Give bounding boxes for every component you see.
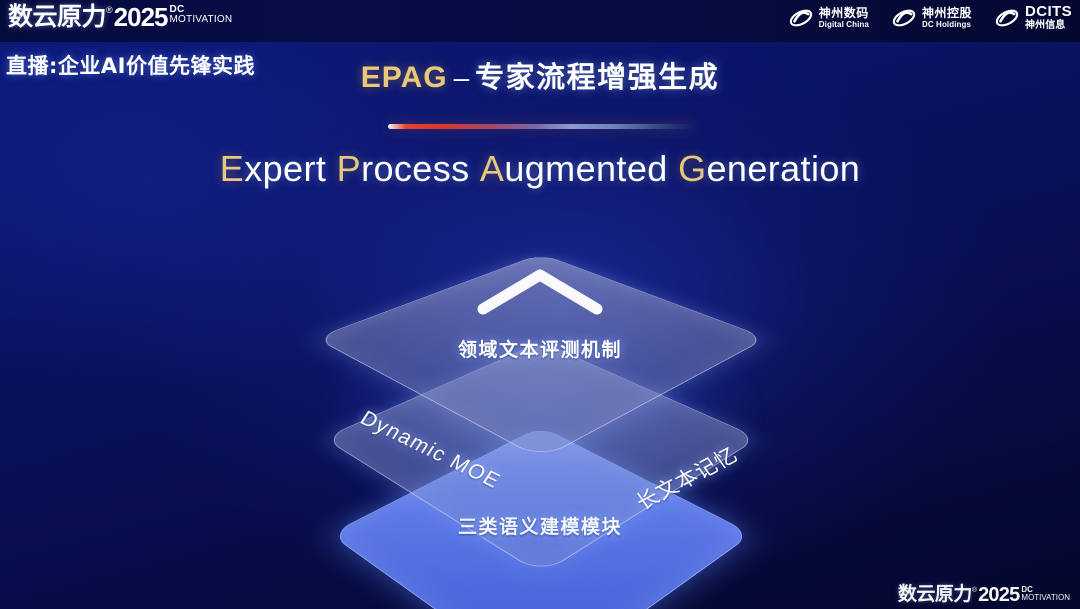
swirl-icon <box>891 5 917 31</box>
partner-logo-dc-holdings: 神州控股 DC Holdings <box>891 5 972 31</box>
partner-logo-text: 神州控股 DC Holdings <box>922 7 972 29</box>
layered-architecture-diagram: 领域文本评测机制 Dynamic MOE 长文本记忆 三类语义建模模块 <box>290 225 790 565</box>
brand-logo: 数云原力 ® 2025 DC MOTIVATION <box>8 4 232 30</box>
partner-name-cn: 神州控股 <box>922 7 972 19</box>
watermark-year: 2025 <box>978 585 1019 605</box>
brand-dc-text: DC <box>170 5 233 14</box>
partner-logo-dcits: DCITS 神州信息 <box>994 4 1072 31</box>
slide-canvas: 数云原力 ® 2025 DC MOTIVATION 直播:企业AI价值先锋实践 … <box>0 0 1080 609</box>
watermark-name-cn: 数云原力 <box>898 585 972 604</box>
brand-tagline: DC MOTIVATION <box>170 5 233 25</box>
partner-logo-digital-china: 神州数码 Digital China <box>788 5 869 31</box>
partner-name-cn: 神州数码 <box>819 7 869 19</box>
brand-name-cn: 数云原力 <box>8 4 106 29</box>
footer-watermark-logo: 数云原力 ® 2025 DC MOTIVATION <box>898 585 1070 605</box>
watermark-dc-text: DC <box>1021 586 1070 593</box>
page-title: EPAG–专家流程增强生成 <box>0 54 1080 96</box>
partner-logo-text: DCITS 神州信息 <box>1025 4 1072 31</box>
partner-logo-text: 神州数码 Digital China <box>819 7 869 29</box>
brand-motivation-text: MOTIVATION <box>170 14 233 25</box>
brand-registered-mark: ® <box>106 6 113 15</box>
subtitle-rest-augmented: ugmented <box>504 148 667 189</box>
partner-logo-group: 神州数码 Digital China 神州控股 DC Holdings <box>788 4 1072 31</box>
watermark-motivation-text: MOTIVATION <box>1021 593 1070 602</box>
title-chinese: 专家流程增强生成 <box>475 60 719 94</box>
swirl-icon <box>994 5 1020 31</box>
subtitle-rest-expert: xpert <box>244 148 326 189</box>
partner-name-en: Digital China <box>819 21 869 29</box>
subtitle-cap-g: G <box>678 148 706 189</box>
subtitle-cap-p: P <box>337 148 361 189</box>
watermark-tagline: DC MOTIVATION <box>1021 586 1070 602</box>
subtitle-expansion: Expert Process Augmented Generation <box>0 148 1080 190</box>
partner-name-en: DC Holdings <box>922 21 972 29</box>
swirl-icon <box>788 5 814 31</box>
title-dash: – <box>454 62 470 93</box>
subtitle-cap-e: E <box>220 148 244 189</box>
watermark-registered-mark: ® <box>972 587 977 594</box>
subtitle-rest-generation: eneration <box>706 148 860 189</box>
title-divider <box>388 124 694 129</box>
subtitle-rest-process: rocess <box>361 148 469 189</box>
title-acronym: EPAG <box>361 61 448 94</box>
partner-name-en: 神州信息 <box>1025 21 1072 31</box>
brand-year: 2025 <box>114 4 168 30</box>
partner-name-cn: DCITS <box>1025 4 1072 19</box>
subtitle-cap-a: A <box>480 148 504 189</box>
